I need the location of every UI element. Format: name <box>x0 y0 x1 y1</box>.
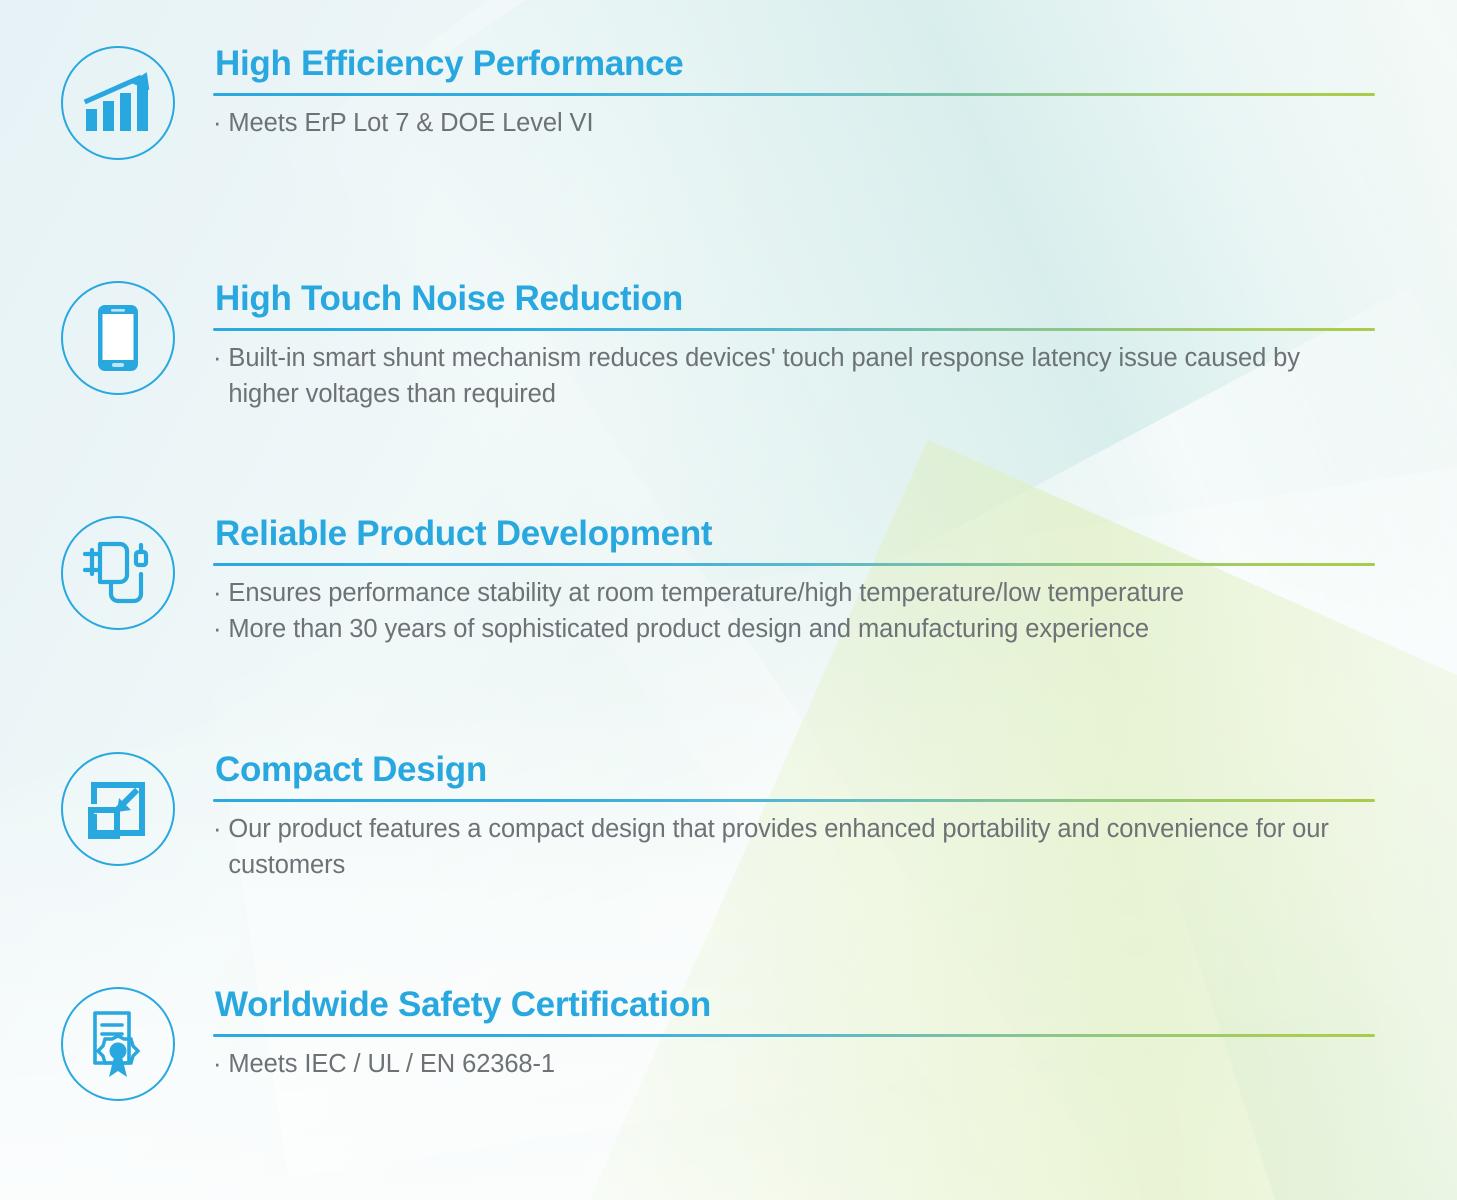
feature-item-high-touch-noise-reduction: High Touch Noise Reduction · Built-in sm… <box>0 281 1457 412</box>
feature-bullet: · More than 30 years of sophisticated pr… <box>213 611 1375 647</box>
feature-icon-container <box>58 46 178 160</box>
feature-icon-container <box>58 281 178 395</box>
bullet-marker-icon: · <box>213 340 221 376</box>
feature-item-compact-design: Compact Design · Our product features a … <box>0 752 1457 883</box>
feature-bullet-list: · Ensures performance stability at room … <box>213 566 1375 647</box>
feature-icon-container <box>58 752 178 866</box>
feature-text-column: Compact Design · Our product features a … <box>213 752 1457 883</box>
power-adapter-icon <box>61 516 175 630</box>
feature-bullet: · Our product features a compact design … <box>213 811 1375 883</box>
feature-title: Worldwide Safety Certification <box>213 987 1375 1025</box>
bullet-marker-icon: · <box>213 611 221 647</box>
feature-item-reliable-product-development: Reliable Product Development · Ensures p… <box>0 516 1457 647</box>
certificate-seal-icon <box>61 987 175 1101</box>
feature-text-column: High Touch Noise Reduction · Built-in sm… <box>213 281 1457 412</box>
feature-bullet-text: Ensures performance stability at room te… <box>228 575 1375 611</box>
feature-bullet-list: · Built-in smart shunt mechanism reduces… <box>213 331 1375 412</box>
feature-bullet-list: · Our product features a compact design … <box>213 802 1375 883</box>
feature-list: High Efficiency Performance · Meets ErP … <box>0 0 1457 1200</box>
feature-bullet-text: More than 30 years of sophisticated prod… <box>228 611 1375 647</box>
bullet-marker-icon: · <box>213 105 221 141</box>
feature-bullet: · Built-in smart shunt mechanism reduces… <box>213 340 1375 412</box>
feature-bullet-text: Meets IEC / UL / EN 62368-1 <box>228 1046 1375 1082</box>
bullet-marker-icon: · <box>213 811 221 847</box>
feature-item-worldwide-safety-certification: Worldwide Safety Certification · Meets I… <box>0 987 1457 1101</box>
feature-bullet-list: · Meets ErP Lot 7 & DOE Level VI <box>213 96 1375 141</box>
feature-bullet-text: Built-in smart shunt mechanism reduces d… <box>228 340 1375 412</box>
feature-bullet-list: · Meets IEC / UL / EN 62368-1 <box>213 1037 1375 1082</box>
feature-bullet: · Meets IEC / UL / EN 62368-1 <box>213 1046 1375 1082</box>
feature-list-page: High Efficiency Performance · Meets ErP … <box>0 0 1457 1200</box>
feature-icon-container <box>58 987 178 1101</box>
feature-bullet: · Ensures performance stability at room … <box>213 575 1375 611</box>
feature-title: High Efficiency Performance <box>213 46 1375 84</box>
bullet-marker-icon: · <box>213 1046 221 1082</box>
feature-text-column: Worldwide Safety Certification · Meets I… <box>213 987 1457 1082</box>
feature-bullet-text: Meets ErP Lot 7 & DOE Level VI <box>228 105 1375 141</box>
feature-text-column: Reliable Product Development · Ensures p… <box>213 516 1457 647</box>
compact-resize-icon <box>61 752 175 866</box>
feature-text-column: High Efficiency Performance · Meets ErP … <box>213 46 1457 141</box>
feature-title: High Touch Noise Reduction <box>213 281 1375 319</box>
bar-chart-growth-icon <box>61 46 175 160</box>
feature-bullet-text: Our product features a compact design th… <box>228 811 1375 883</box>
feature-bullet: · Meets ErP Lot 7 & DOE Level VI <box>213 105 1375 141</box>
feature-item-high-efficiency-performance: High Efficiency Performance · Meets ErP … <box>0 46 1457 160</box>
bullet-marker-icon: · <box>213 575 221 611</box>
feature-title: Compact Design <box>213 752 1375 790</box>
feature-icon-container <box>58 516 178 630</box>
feature-title: Reliable Product Development <box>213 516 1375 554</box>
smartphone-icon <box>61 281 175 395</box>
